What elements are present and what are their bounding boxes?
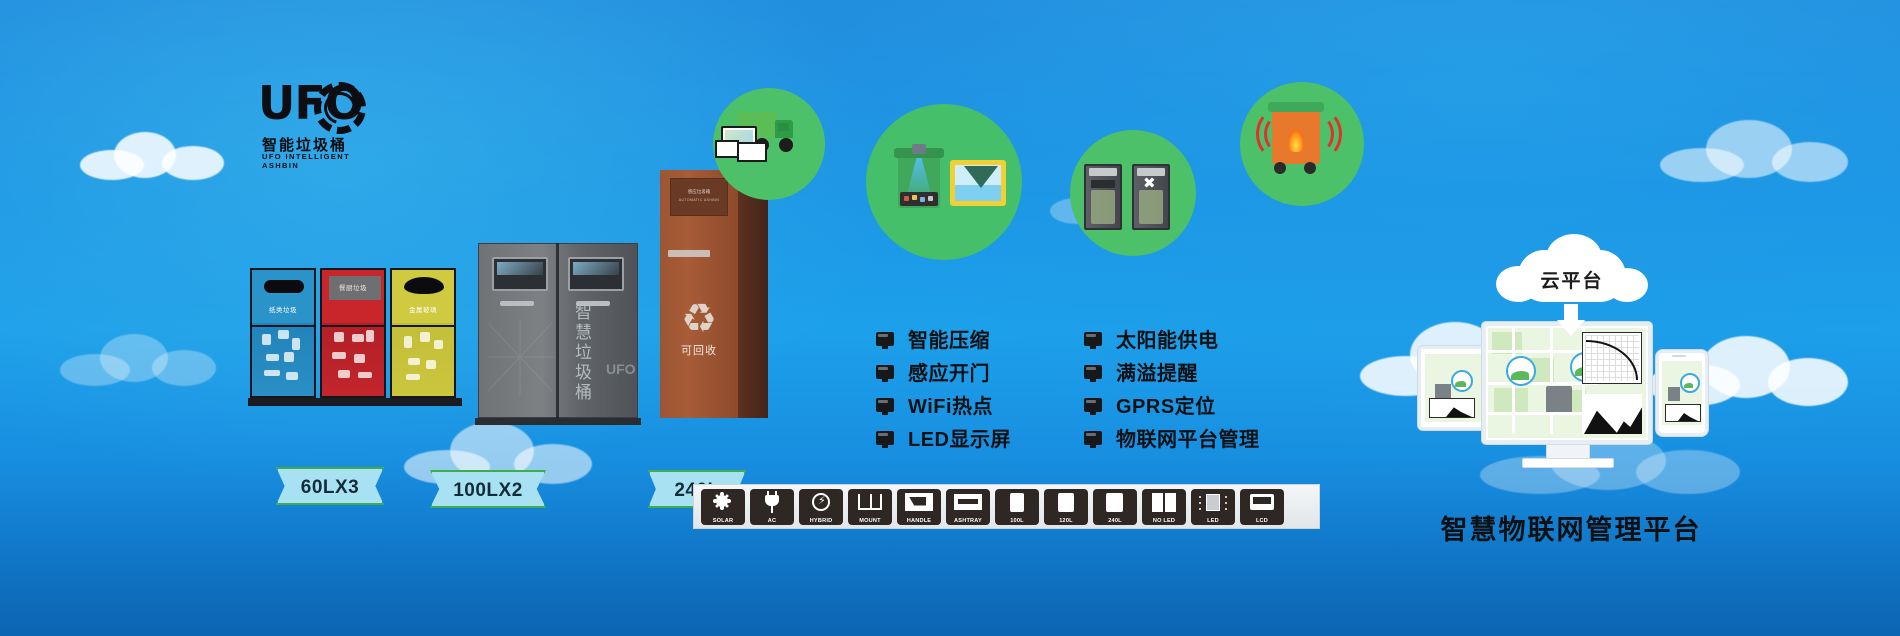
phone-speaker	[1672, 355, 1686, 357]
feature-item: 满溢提醒	[1084, 355, 1260, 388]
capacity-240l-icon	[1106, 493, 1123, 512]
monitor-bullet-icon	[876, 398, 894, 412]
spec-caption: AC	[750, 518, 794, 524]
platform-caption: 智慧物联网管理平台	[1418, 508, 1724, 547]
map-pin-icon	[1451, 370, 1473, 392]
compartment-artwork	[328, 328, 378, 390]
spec-icon-120l: 120L	[1044, 489, 1088, 525]
bin-slot-icon	[404, 277, 444, 294]
promo-banner: UFO 智能垃圾桶 UFO INTELLIGENT ASHBIN 纸类垃圾 餐厨…	[0, 0, 1900, 636]
feature-label: LED显示屏	[908, 423, 1011, 452]
compartment-artwork	[258, 328, 308, 390]
device-tablet	[1418, 346, 1488, 430]
monitor-foot	[1522, 458, 1614, 468]
panel-divider	[252, 325, 314, 327]
bin-compartment-metal-glass: 金属玻璃	[390, 268, 456, 398]
alarm-wave	[1304, 110, 1342, 158]
compressor-unit	[1084, 164, 1122, 230]
waste-pile	[900, 192, 938, 206]
fleet-dispatch-icon	[713, 88, 825, 200]
fire-alarm-icon	[1240, 82, 1364, 206]
container-fill-level	[955, 185, 1001, 201]
capacity-120l-icon	[1058, 493, 1074, 512]
monitor-bullet-icon	[1084, 398, 1102, 412]
panel-divider	[392, 325, 454, 327]
truck-window	[778, 123, 789, 131]
capacity-badge-60lx3: 60LX3	[276, 467, 384, 505]
chart-area-left	[1584, 408, 1618, 434]
compartment-label: 纸类垃圾	[252, 304, 314, 314]
map-pin-icon	[1680, 373, 1700, 393]
spec-caption: MOUNT	[848, 518, 892, 524]
monitor-bullet-icon	[876, 431, 894, 445]
bin-seam	[556, 243, 559, 418]
panel-divider	[322, 325, 384, 327]
bin-side-panel	[738, 162, 768, 418]
feature-item: 智能压缩	[876, 322, 1011, 355]
spec-caption: SOLAR	[701, 518, 745, 524]
feature-column-right: 太阳能供电 满溢提醒 GPRS定位 物联网平台管理	[1084, 322, 1260, 454]
logo-english-tagline: UFO INTELLIGENT ASHBIN	[262, 152, 368, 170]
bin-body-label: 可回收	[660, 342, 738, 358]
spec-caption: HYBRID	[799, 518, 843, 524]
tablet-chart	[1429, 398, 1475, 418]
collection-container	[950, 160, 1006, 206]
bin-display-screen	[568, 257, 624, 291]
bin-compartment-paper: 纸类垃圾	[250, 268, 316, 398]
spec-icon-240l: 240L	[1093, 489, 1137, 525]
spec-icon-solar: SOLAR	[701, 489, 745, 525]
tablet-screen	[1425, 354, 1481, 422]
map-pin-icon	[1506, 356, 1536, 386]
spec-caption: ASHTRAY	[946, 518, 990, 524]
compartment-label: 餐厨垃圾	[322, 282, 384, 292]
lcd-display-icon	[1250, 494, 1274, 510]
led-display-icon	[1206, 494, 1220, 511]
feature-item: 太阳能供电	[1084, 322, 1260, 355]
feature-column-left: 智能压缩 感应开门 WiFi热点 LED显示屏	[876, 322, 1011, 454]
product-brown-bin: 感应垃圾箱 AUTOMATIC ASHBIN ♻ 可回收	[660, 170, 768, 418]
cloud-platform-illustration: 云平台	[1410, 250, 1730, 480]
spec-icon-mount: MOUNT	[848, 489, 892, 525]
mount-bracket-icon	[858, 494, 882, 510]
bin-vertical-label: 智慧垃圾桶	[574, 303, 594, 403]
spec-caption: HANDLE	[897, 518, 941, 524]
spec-caption: 240L	[1093, 518, 1137, 524]
chart-area-right	[1616, 406, 1642, 434]
bin-handle-icon	[500, 301, 534, 306]
ac-plug-icon	[765, 495, 779, 506]
device-desktop-monitor	[1482, 322, 1652, 444]
capacity-100l-icon	[1010, 493, 1024, 512]
feature-item: LED显示屏	[876, 421, 1011, 454]
unit-cap	[1089, 168, 1117, 176]
ashtray-icon	[954, 494, 982, 510]
screen-glass	[573, 262, 619, 275]
feature-label: 太阳能供电	[1116, 324, 1219, 353]
cloud-decoration	[80, 128, 230, 180]
truck-wheel	[779, 138, 793, 152]
spec-icon-no-led: NO LED	[1142, 489, 1186, 525]
spec-caption: 120L	[1044, 518, 1088, 524]
spec-caption: LED	[1191, 518, 1235, 524]
monitor-bullet-icon	[876, 365, 894, 379]
spec-caption: 100L	[995, 518, 1039, 524]
compartment-artwork	[398, 328, 448, 390]
feature-item: 感应开门	[876, 355, 1011, 388]
waste-bag	[1139, 190, 1163, 224]
fill-sensor-icon	[880, 118, 1020, 246]
feature-item: WiFi热点	[876, 388, 1011, 421]
bin-brand-mark: UFO	[606, 361, 636, 377]
monitor-bullet-icon	[1084, 332, 1102, 346]
solar-panel-icon	[716, 495, 728, 507]
alarm-wave	[1256, 110, 1294, 158]
bin-base	[475, 418, 641, 425]
spec-icon-strip: SOLAR AC ⚡ HYBRID MOUNT HANDLE ASHTRAY 1…	[693, 484, 1320, 529]
monitor-screen	[1488, 328, 1646, 438]
feature-label: 物联网平台管理	[1116, 423, 1260, 452]
compressor-unit: ✖	[1132, 164, 1170, 230]
feature-label: 智能压缩	[908, 324, 990, 353]
bin-surface-texture	[486, 317, 556, 397]
bin-base	[248, 398, 462, 406]
feature-label: WiFi热点	[908, 390, 993, 419]
cloud-decoration	[60, 330, 220, 386]
analytics-line-chart	[1582, 332, 1642, 384]
spec-icon-ashtray: ASHTRAY	[946, 489, 990, 525]
feature-label: GPRS定位	[1116, 390, 1216, 419]
feature-item: GPRS定位	[1084, 388, 1260, 421]
bin-display-screen	[492, 257, 548, 291]
flame-icon	[1288, 130, 1304, 152]
spec-icon-lcd: LCD	[1240, 489, 1284, 525]
sensor-module	[912, 144, 926, 154]
monitor-bullet-icon	[1084, 431, 1102, 445]
compartment-label: 金属玻璃	[392, 304, 454, 314]
terminal-tablet	[715, 140, 739, 158]
bolt-glyph: ⚡	[818, 496, 826, 507]
spec-icon-hybrid: ⚡ HYBRID	[799, 489, 843, 525]
no-led-icon	[1152, 493, 1176, 512]
spec-caption: NO LED	[1142, 518, 1186, 524]
bin-wheel	[1274, 162, 1286, 174]
phone-chart	[1665, 404, 1701, 422]
compression-icon: ✖	[1070, 130, 1196, 256]
capacity-badge-100lx2: 100LX2	[430, 470, 546, 508]
recycle-icon: ♻	[678, 298, 720, 340]
product-triple-bin: 纸类垃圾 餐厨垃圾	[250, 268, 460, 398]
spec-caption: LCD	[1240, 518, 1284, 524]
cloud-label: 云平台	[1518, 266, 1626, 293]
brand-logo: UFO 智能垃圾桶 UFO INTELLIGENT ASHBIN	[258, 78, 368, 166]
spec-icon-100l: 100L	[995, 489, 1039, 525]
plug-cord	[771, 506, 773, 513]
bin-compartment-kitchen: 餐厨垃圾	[320, 268, 386, 398]
bin-slot-icon	[668, 250, 710, 257]
cloud-decoration	[1660, 120, 1850, 182]
product-double-bin: 智慧垃圾桶 UFO	[478, 243, 638, 418]
terminal-laptop	[737, 142, 767, 162]
phone-screen	[1662, 361, 1702, 425]
map-building	[1546, 386, 1572, 412]
handle-icon	[905, 493, 933, 511]
analytics-area-chart	[1584, 394, 1642, 434]
compression-plate	[1091, 180, 1115, 188]
map-building	[1668, 387, 1680, 401]
screen-glass	[497, 262, 543, 275]
monitor-bullet-icon	[1084, 365, 1102, 379]
spec-icon-handle: HANDLE	[897, 489, 941, 525]
spec-icon-ac: AC	[750, 489, 794, 525]
spec-icon-led: LED	[1191, 489, 1235, 525]
feature-item: 物联网平台管理	[1084, 421, 1260, 454]
bin-slot-icon	[264, 280, 304, 293]
waste-bag	[1091, 190, 1115, 224]
device-smartphone	[1656, 350, 1708, 436]
monitor-bullet-icon	[876, 332, 894, 346]
feature-label: 感应开门	[908, 357, 990, 386]
bin-wheel	[1304, 162, 1316, 174]
cloud-badge: 云平台	[1518, 250, 1626, 302]
compression-cross-icon: ✖	[1143, 178, 1156, 190]
feature-label: 满溢提醒	[1116, 357, 1198, 386]
